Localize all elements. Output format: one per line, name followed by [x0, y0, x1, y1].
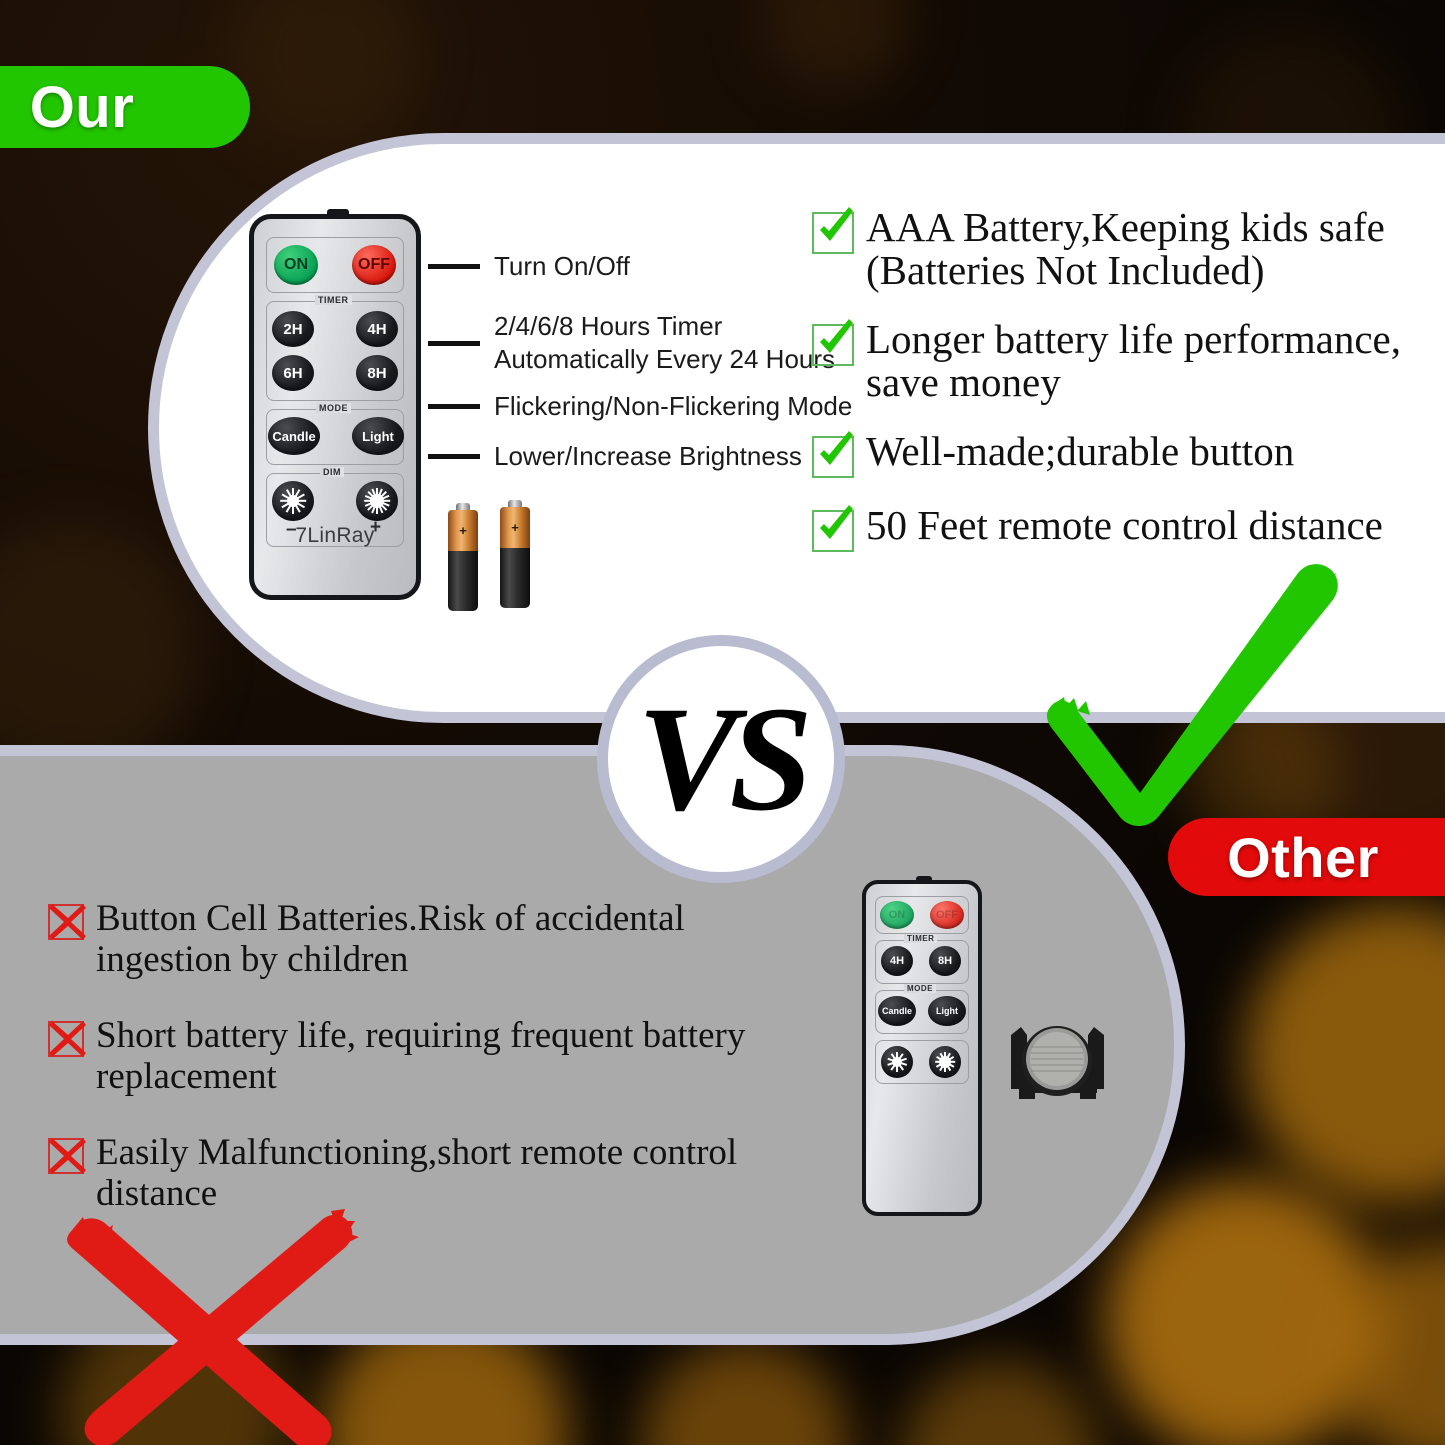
cons-item-text: Button Cell Batteries.Risk of accidental… — [96, 898, 748, 981]
mode-group-label: MODE — [904, 984, 936, 993]
pros-item-text: Well-made;durable button — [866, 430, 1294, 473]
callout-timer: 2/4/6/8 Hours Timer Automatically Every … — [428, 310, 835, 377]
mode-light-button[interactable]: Light — [352, 417, 404, 455]
green-check-brush-icon — [1030, 555, 1360, 830]
timer-4h-button[interactable]: 4H — [356, 311, 398, 347]
check-icon — [812, 436, 854, 478]
power-on-button[interactable]: ON — [880, 901, 914, 929]
other-badge-label: Other — [1227, 825, 1379, 890]
brightness-low-icon — [280, 488, 306, 514]
brightness-high-icon — [935, 1052, 955, 1072]
power-off-button[interactable]: OFF — [352, 245, 396, 285]
remote-ir-nub — [916, 876, 932, 882]
check-icon — [812, 324, 854, 366]
timer-2h-button[interactable]: 2H — [272, 311, 314, 347]
red-x-brush-icon — [55, 1195, 365, 1445]
cons-list-item: Button Cell Batteries.Risk of accidental… — [48, 898, 748, 981]
cons-list-item: Short battery life, requiring frequent b… — [48, 1015, 748, 1098]
timer-group-label: TIMER — [315, 295, 352, 305]
vs-label: VS — [637, 699, 804, 819]
mode-group-label: MODE — [316, 403, 351, 413]
callout-leader-line — [428, 341, 480, 346]
callout-leader-line — [428, 404, 480, 409]
cross-icon — [48, 904, 84, 940]
callout-leader-line — [428, 264, 480, 269]
timer-8h-button[interactable]: 8H — [356, 355, 398, 391]
mode-candle-button[interactable]: Candle — [878, 996, 916, 1026]
dim-group-label: DIM — [320, 467, 344, 477]
our-badge: Our — [0, 66, 250, 148]
our-badge-label: Our — [30, 74, 135, 141]
pros-list-item: Well-made;durable button — [812, 430, 1430, 478]
callout-power-text: Turn On/Off — [494, 250, 630, 283]
cross-icon — [48, 1138, 84, 1174]
power-on-button[interactable]: ON — [274, 245, 318, 285]
pros-item-text: Longer battery life performance, save mo… — [866, 318, 1430, 404]
dim-down-button[interactable] — [272, 481, 314, 521]
callout-mode: Flickering/Non-Flickering Mode — [428, 390, 852, 423]
timer-8h-button[interactable]: 8H — [929, 946, 961, 976]
timer-4h-button[interactable]: 4H — [881, 946, 913, 976]
power-off-button[interactable]: OFF — [930, 901, 964, 929]
pros-item-text: 50 Feet remote control distance — [866, 504, 1383, 547]
brightness-low-icon — [887, 1052, 907, 1072]
remote-ir-nub — [327, 209, 349, 217]
vs-circle: VS — [597, 635, 845, 883]
callout-timer-text: 2/4/6/8 Hours Timer Automatically Every … — [494, 310, 835, 377]
check-icon — [812, 510, 854, 552]
timer-6h-button[interactable]: 6H — [272, 355, 314, 391]
pros-list-item: 50 Feet remote control distance — [812, 504, 1430, 552]
aaa-battery: + — [448, 503, 478, 611]
check-icon — [812, 212, 854, 254]
comparison-infographic: Our ON OFF TIMER 2H 4H 6H 8H MODE Candle… — [0, 0, 1445, 1445]
cross-icon — [48, 1021, 84, 1057]
cons-list: Button Cell Batteries.Risk of accidental… — [48, 898, 748, 1215]
callout-dim: Lower/Increase Brightness — [428, 440, 802, 473]
pros-list-item: Longer battery life performance, save mo… — [812, 318, 1430, 404]
dim-up-button[interactable] — [356, 481, 398, 521]
pros-list-item: AAA Battery,Keeping kids safe (Batteries… — [812, 206, 1430, 292]
mode-candle-button[interactable]: Candle — [268, 417, 320, 455]
dim-down-button[interactable] — [881, 1046, 913, 1078]
callout-dim-text: Lower/Increase Brightness — [494, 440, 802, 473]
coin-cell-battery-holder — [1005, 1013, 1110, 1118]
pros-item-text: AAA Battery,Keeping kids safe (Batteries… — [866, 206, 1430, 292]
mode-light-button[interactable]: Light — [928, 996, 966, 1026]
dim-up-button[interactable] — [929, 1046, 961, 1078]
callout-power: Turn On/Off — [428, 250, 630, 283]
callout-leader-line — [428, 454, 480, 459]
timer-group-label: TIMER — [904, 934, 937, 943]
brightness-high-icon — [364, 488, 390, 514]
remote-brand-label: 7LinRay — [249, 524, 421, 548]
callout-mode-text: Flickering/Non-Flickering Mode — [494, 390, 852, 423]
pros-list: AAA Battery,Keeping kids safe (Batteries… — [812, 206, 1430, 552]
cons-item-text: Short battery life, requiring frequent b… — [96, 1015, 748, 1098]
aaa-battery: + — [500, 500, 530, 608]
other-remote-control: ON OFF TIMER 4H 8H MODE Candle Light — [862, 880, 982, 1216]
